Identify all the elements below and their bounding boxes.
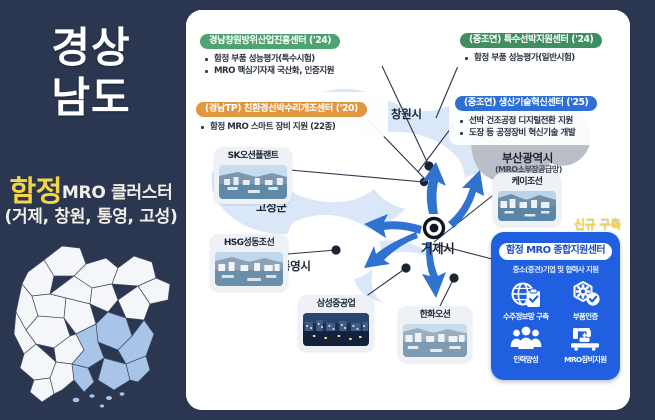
city-label-changwon: 창원시 [391,106,422,122]
callout-bullet: 함정 부품 성능평가(특수시험) [204,53,373,66]
mro-service-item-order-network[interactable]: 수주정보망 구축 [496,280,556,322]
company-card-hanwha-ocean[interactable]: 한화오션 [398,306,472,362]
callout-bullet: 도장 등 공정장비 혁신기술 개발 [459,127,623,140]
callout-bullet-list: 함정 부품 성능평가(특수시험) MRO 핵심기자재 국산화, 인증지원 [204,53,373,78]
callout-title-pill: (경남TP) 친환경선박수리개조센터 ('20) [196,102,367,117]
callout-title-pill: (중조연) 특수선박지원센터 ('24) [460,33,602,48]
province-outline-map [14,238,174,410]
mro-service-label: 인력양성 [496,354,556,365]
shipyard-photo [215,252,283,286]
cluster-cities: (거제, 창원, 통영, 고성) [0,202,182,227]
infographic-root: 경상 남도 함정MRO 클러스터 (거제, 창원, 통영, 고성) [0,0,655,420]
callout-gntp-eco-ship-repair-center[interactable]: (경남TP) 친환경선박수리개조센터 ('20) 함정 MRO 스마트 장비 지… [190,92,388,138]
coastal-shipyard-photo [498,191,556,221]
callout-bullet: 함정 부품 성능평가(일반시험) [464,52,620,65]
cluster-tagline-rest: MRO 클러스터 [62,183,173,203]
company-card-k-shipbuilding[interactable]: 케이조선 [493,173,561,226]
mro-service-label: 수주정보망 구축 [496,311,556,322]
callout-bullet-list: 함정 MRO 스마트 장비 지원 (22종) [200,121,382,134]
callout-bullet: MRO 핵심기자재 국산화, 인증지원 [204,65,373,78]
mro-service-item-workforce[interactable]: 인력양성 [496,325,556,365]
mro-center-title: 함정 MRO 종합지원센터 [499,243,612,260]
company-card-label: 한화오션 [403,310,467,321]
new-build-label: 신규 구축 [574,215,621,232]
callout-production-tech-innovation-center[interactable]: (중조연) 생산기술혁신센터 ('25) 선박 건조공정 디지털전환 지원 도장… [449,86,629,145]
mro-service-item-equipment-support[interactable]: MRO장비지원 [556,325,616,365]
company-card-label: 케이조선 [498,177,556,188]
callout-title-pill: (중조연) 생산기술혁신센터 ('25) [455,96,597,111]
mro-center-subtitle: 중소(중견)기업 및 협력사 지원 [496,264,615,275]
mro-service-grid: 수주정보망 구축 [496,280,615,365]
company-card-label: HSG성동조선 [215,238,283,249]
geoje-hub-marker [425,219,444,238]
people-group-icon [509,325,543,353]
callout-bullet-list: 선박 건조공정 디지털전환 지원 도장 등 공정장비 혁신기술 개발 [459,115,623,140]
mro-support-center-panel[interactable]: 함정 MRO 종합지원센터 중소(중견)기업 및 협력사 지원 수주정보망 구축 [491,232,620,380]
shipyard-photo [403,324,467,357]
cluster-cities-label: (거제, 창원, 통영, 고성) [5,207,178,227]
company-card-hsg-sungdong[interactable]: HSG성동조선 [210,234,288,291]
callout-special-vessel-support-center[interactable]: (중조연) 특수선박지원센터 ('24) 함정 부품 성능평가(일반시험) [454,23,626,69]
sidebar: 경상 남도 함정MRO 클러스터 (거제, 창원, 통영, 고성) [0,0,182,420]
callout-bullet: 함정 MRO 스마트 장비 지원 (22종) [200,121,382,134]
gear-certified-icon [568,280,602,310]
company-card-sk-oceanplant[interactable]: SK오션플랜트 [214,147,292,204]
city-label-geoje: 거제시 [421,238,454,257]
mro-service-item-part-certification[interactable]: 부품인증 [556,280,616,322]
company-card-samsung-heavy[interactable]: 삼성중공업 [298,295,374,351]
mro-service-label: 부품인증 [556,311,616,322]
callout-title-pill: 경남창원방위산업진흥센터 ('24) [200,34,340,49]
night-shipyard-photo [303,313,369,346]
province-title-line1: 경상 [0,26,182,70]
callout-changwon-defense-center[interactable]: 경남창원방위산업진흥센터 ('24) 함정 부품 성능평가(특수시험) MRO … [194,24,379,83]
globe-checklist-icon [509,280,543,310]
company-card-label: SK오션플랜트 [219,151,287,162]
callout-bullet-list: 함정 부품 성능평가(일반시험) [464,52,620,65]
company-card-label: 삼성중공업 [303,299,369,310]
map-panel: 경남창원방위산업진흥센터 ('24) 함정 부품 성능평가(특수시험) MRO … [186,10,630,410]
callout-bullet: 선박 건조공정 디지털전환 지원 [459,115,623,128]
shipyard-photo [219,165,287,199]
mro-service-label: MRO장비지원 [556,354,616,365]
province-title-line2: 남도 [0,76,182,120]
machine-equipment-icon [568,325,602,353]
